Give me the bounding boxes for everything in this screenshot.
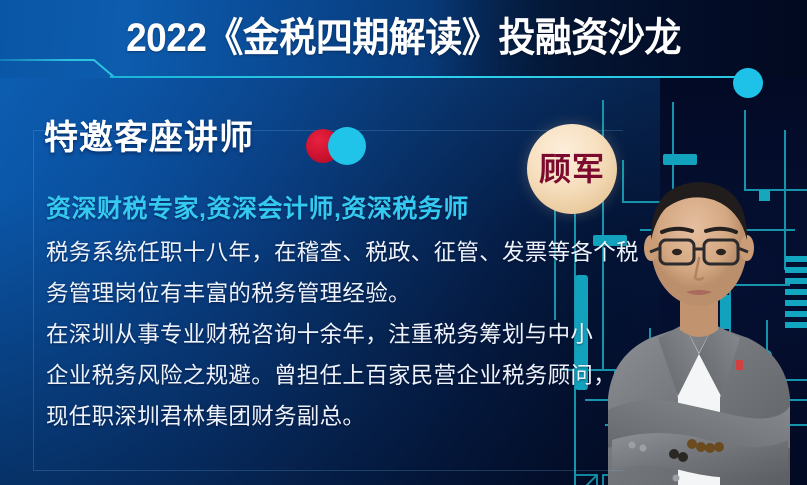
bio-line: 企业税务风险之规避。曾担任上百家民营企业税务顾问， (46, 355, 591, 396)
bio-line: 税务系统任职十八年，在稽查、税政、征管、发票等各个税 (46, 232, 591, 273)
bio-line: 务管理岗位有丰富的税务管理经验。 (46, 273, 591, 314)
header-rule-left-segment (0, 59, 70, 61)
header-accent-dot-icon (733, 68, 763, 98)
speaker-bio: 税务系统任职十八年，在稽查、税政、征管、发票等各个税 务管理岗位有丰富的税务管理… (46, 232, 591, 437)
poster-root: 2022《金税四期解读》投融资沙龙 特邀客座讲师 资深财税专家,资深会计师,资深… (0, 0, 807, 485)
speaker-name-badge: 顾军 (527, 124, 617, 214)
header-rule (110, 76, 747, 78)
cyan-circle-icon (328, 127, 366, 165)
decorative-dots (306, 126, 374, 166)
section-title: 特邀客座讲师 (44, 116, 254, 160)
bio-line: 在深圳从事专业财税咨询十余年，注重税务筹划与中小 (46, 314, 591, 355)
page-title: 2022《金税四期解读》投融资沙龙 (0, 12, 807, 64)
bio-line: 现任职深圳君林集团财务副总。 (46, 396, 591, 437)
speaker-name: 顾军 (527, 124, 617, 214)
speaker-credentials: 资深财税专家,资深会计师,资深税务师 (46, 192, 469, 226)
